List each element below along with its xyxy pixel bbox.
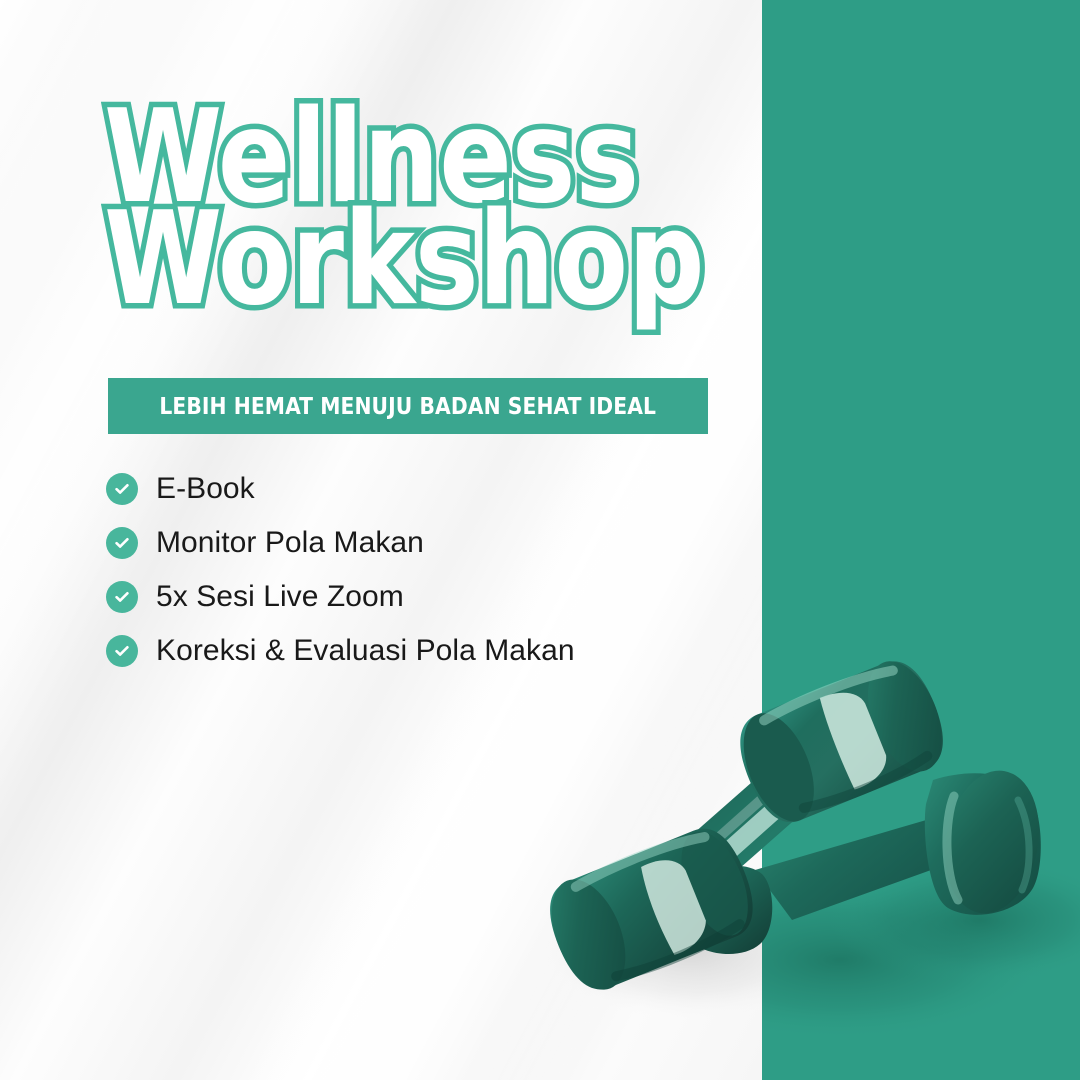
check-circle-icon xyxy=(106,473,138,505)
feature-label: E-Book xyxy=(156,472,255,506)
check-circle-icon xyxy=(106,635,138,667)
check-circle-icon xyxy=(106,581,138,613)
feature-label: Monitor Pola Makan xyxy=(156,526,424,560)
feature-label: Koreksi & Evaluasi Pola Makan xyxy=(156,634,575,668)
page-title: Wellness Workshop xyxy=(104,104,764,313)
list-item: Koreksi & Evaluasi Pola Makan xyxy=(106,624,575,678)
subtitle-text: LEBIH HEMAT MENUJU BADAN SEHAT IDEAL xyxy=(160,392,657,420)
list-item: E-Book xyxy=(106,462,575,516)
wellness-workshop-poster: Wellness Workshop LEBIH HEMAT MENUJU BAD… xyxy=(0,0,1080,1080)
list-item: 5x Sesi Live Zoom xyxy=(106,570,575,624)
list-item: Monitor Pola Makan xyxy=(106,516,575,570)
dumbbells-photo xyxy=(540,620,1080,1080)
title-line-two: Workshop xyxy=(104,206,718,314)
feature-label: 5x Sesi Live Zoom xyxy=(156,580,404,614)
feature-list: E-Book Monitor Pola Makan 5x Sesi Live Z… xyxy=(106,462,575,678)
subtitle-banner: LEBIH HEMAT MENUJU BADAN SEHAT IDEAL xyxy=(108,378,708,434)
check-circle-icon xyxy=(106,527,138,559)
